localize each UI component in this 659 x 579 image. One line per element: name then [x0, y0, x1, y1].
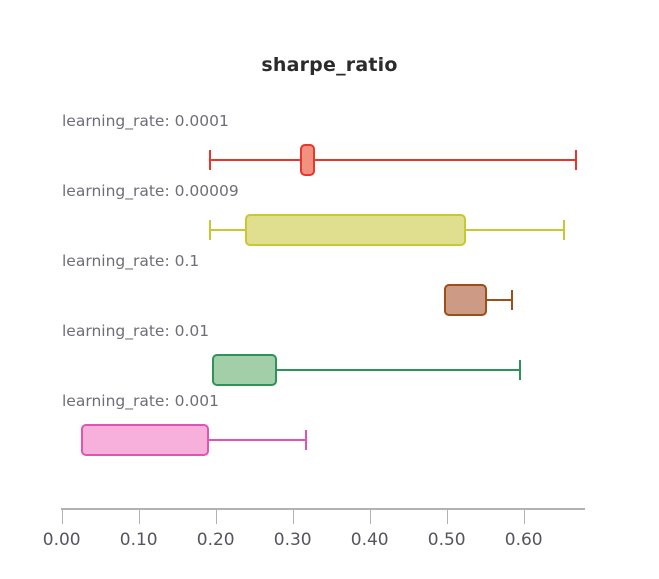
- facet-label: learning_rate: 0.001: [62, 392, 219, 410]
- upper-whisker: [277, 369, 519, 371]
- chart-title: sharpe_ratio: [0, 54, 659, 76]
- boxplot-chart: sharpe_ratio learning_rate: 0.0001learni…: [0, 0, 659, 579]
- box-iqr: [300, 144, 315, 176]
- box-iqr: [81, 424, 209, 456]
- box-iqr: [212, 354, 277, 386]
- tick-label: 0.40: [351, 530, 389, 550]
- tick-mark: [370, 508, 372, 524]
- facet-label: learning_rate: 0.01: [62, 322, 209, 340]
- lower-whisker: [209, 159, 300, 161]
- tick-label: 0.10: [120, 530, 158, 550]
- upper-whisker: [487, 299, 511, 301]
- facet-label: learning_rate: 0.1: [62, 252, 199, 270]
- upper-whisker-cap: [511, 290, 513, 310]
- upper-whisker: [466, 229, 563, 231]
- facet-row: learning_rate: 0.00009: [0, 182, 659, 252]
- upper-whisker-cap: [519, 360, 521, 380]
- lower-whisker-cap: [209, 150, 211, 170]
- tick-label: 0.50: [428, 530, 466, 550]
- facet-row: learning_rate: 0.0001: [0, 112, 659, 182]
- tick-label: 0.00: [43, 530, 81, 550]
- box-plot-glyph: [0, 138, 659, 182]
- box-plot-glyph: [0, 278, 659, 322]
- tick-mark: [139, 508, 141, 524]
- tick-label: 0.20: [197, 530, 235, 550]
- facet-row: learning_rate: 0.001: [0, 392, 659, 462]
- tick-mark: [216, 508, 218, 524]
- tick-label: 0.60: [505, 530, 543, 550]
- box-iqr: [245, 214, 466, 246]
- box-iqr: [444, 284, 486, 316]
- facet-label: learning_rate: 0.0001: [62, 112, 229, 130]
- tick-mark: [62, 508, 64, 524]
- upper-whisker-cap: [305, 430, 307, 450]
- tick-mark: [447, 508, 449, 524]
- tick-label: 0.30: [274, 530, 312, 550]
- upper-whisker: [209, 439, 305, 441]
- lower-whisker-cap: [209, 220, 211, 240]
- box-plot-glyph: [0, 418, 659, 462]
- tick-mark: [524, 508, 526, 524]
- x-axis: 0.000.100.200.300.400.500.60: [0, 508, 659, 578]
- box-plot-glyph: [0, 208, 659, 252]
- facet-row: learning_rate: 0.1: [0, 252, 659, 322]
- lower-whisker: [209, 229, 245, 231]
- facet-row: learning_rate: 0.01: [0, 322, 659, 392]
- upper-whisker-cap: [575, 150, 577, 170]
- box-plot-glyph: [0, 348, 659, 392]
- upper-whisker-cap: [563, 220, 565, 240]
- upper-whisker: [315, 159, 574, 161]
- facet-label: learning_rate: 0.00009: [62, 182, 239, 200]
- tick-mark: [293, 508, 295, 524]
